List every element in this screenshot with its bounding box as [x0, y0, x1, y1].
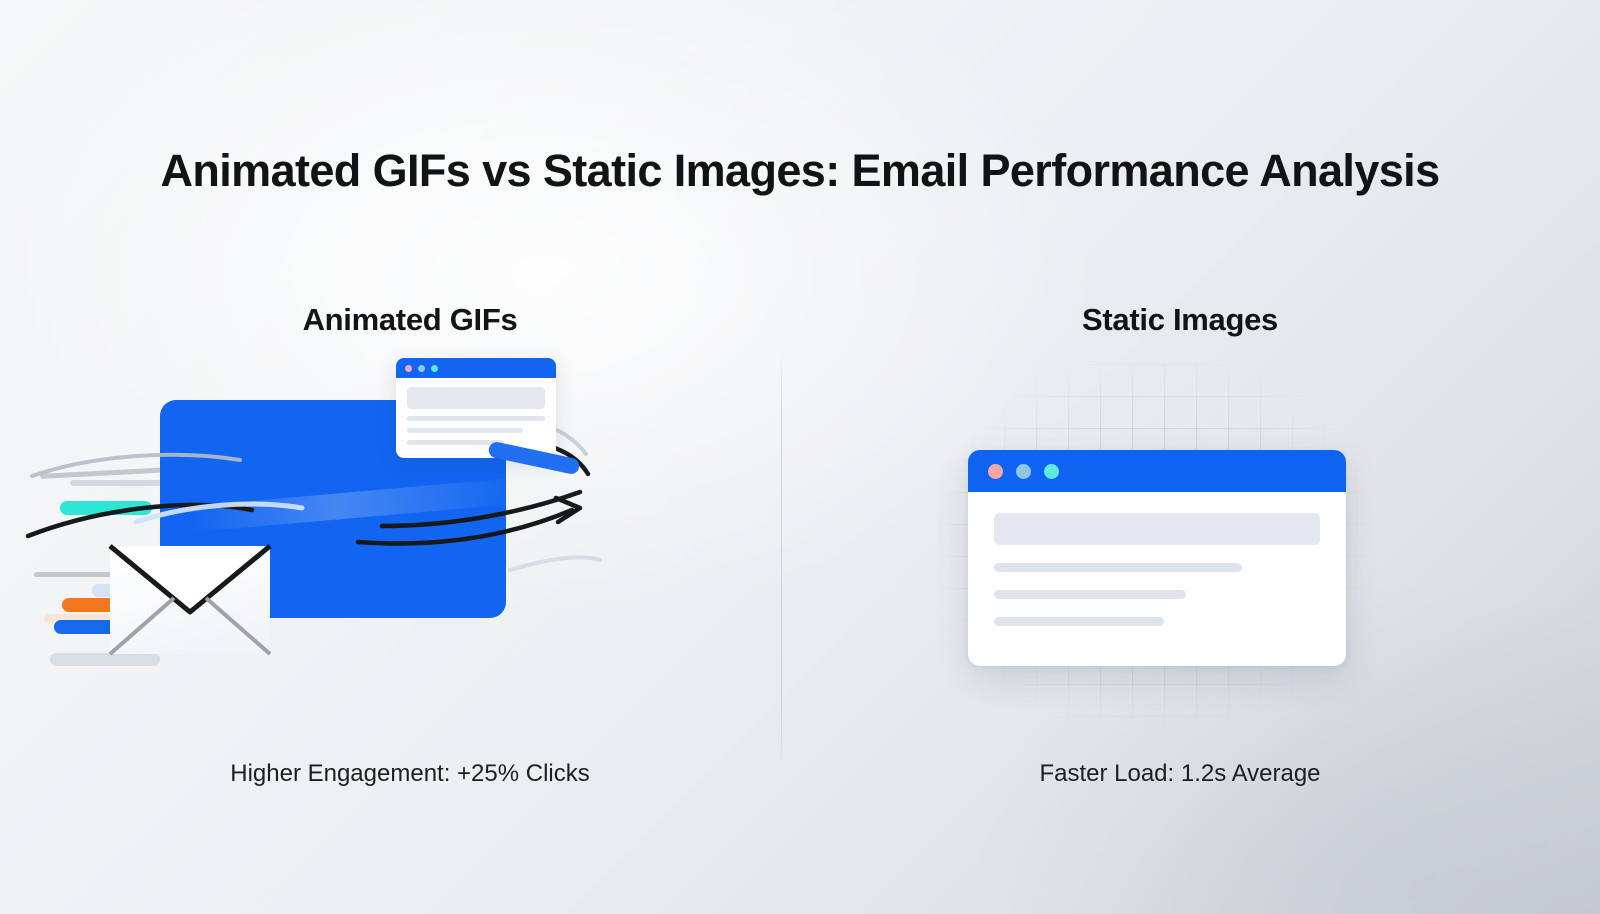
- mini-browser-content: [396, 378, 556, 445]
- content-line-placeholder: [994, 590, 1186, 599]
- mini-browser-card[interactable]: [396, 358, 556, 458]
- window-dot-pink: [405, 365, 412, 372]
- window-dot-cyan[interactable]: [1044, 464, 1059, 479]
- panel-caption-static-images: Faster Load: 1.2s Average: [800, 760, 1560, 788]
- panel-heading-static-images: Static Images: [800, 302, 1560, 338]
- browser-title-bar: [968, 450, 1346, 492]
- content-line-placeholder: [994, 617, 1164, 626]
- content-line-placeholder: [407, 440, 504, 445]
- window-dot-blue: [418, 365, 425, 372]
- page-title: Animated GIFs vs Static Images: Email Pe…: [0, 145, 1600, 197]
- content-line-placeholder: [407, 428, 523, 433]
- content-line-placeholder: [407, 416, 545, 421]
- content-block-placeholder: [994, 513, 1320, 545]
- content-line-placeholder: [994, 563, 1242, 572]
- panel-animated-gifs: Animated GIFs: [40, 280, 780, 840]
- static-image-browser-illustration: [800, 358, 1560, 748]
- browser-card[interactable]: [968, 450, 1346, 666]
- animated-gif-email-illustration: [40, 358, 780, 748]
- panel-divider: [781, 352, 782, 770]
- envelope-icon: [108, 540, 272, 656]
- speed-line-teal: [60, 501, 152, 515]
- panel-heading-animated-gifs: Animated GIFs: [40, 302, 780, 338]
- panel-caption-animated-gifs: Higher Engagement: +25% Clicks: [40, 760, 780, 788]
- window-dot-cyan: [431, 365, 438, 372]
- content-block-placeholder: [407, 387, 545, 409]
- browser-content: [968, 492, 1346, 626]
- window-dot-blue[interactable]: [1016, 464, 1031, 479]
- mini-browser-title-bar: [396, 358, 556, 378]
- slide-canvas: Animated GIFs vs Static Images: Email Pe…: [0, 0, 1600, 914]
- window-dot-pink[interactable]: [988, 464, 1003, 479]
- panel-static-images: Static Images Faster Load: 1.2s Average: [800, 280, 1560, 840]
